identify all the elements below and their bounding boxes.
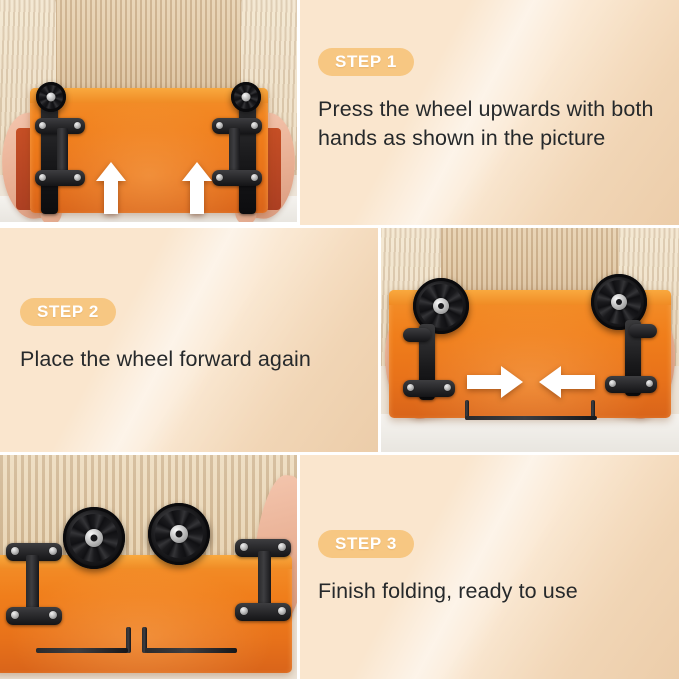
arrow-up-right-icon	[182, 162, 212, 214]
step-3-instruction: Finish folding, ready to use	[318, 577, 657, 606]
step-3-badge-label: STEP 3	[335, 535, 397, 552]
step-1-badge: STEP 1	[318, 48, 414, 76]
arrow-up-left-icon	[96, 162, 126, 214]
wheel-right	[231, 82, 261, 112]
bolt	[646, 380, 653, 387]
wheel-left	[63, 507, 125, 569]
wheel-right	[148, 503, 210, 565]
bolt	[74, 122, 81, 129]
stand-bar-left	[36, 648, 128, 653]
instruction-infographic: STEP 1 Press the wheel upwards with both…	[0, 0, 679, 679]
bolt	[216, 174, 223, 181]
bolt	[251, 174, 258, 181]
step-3-badge: STEP 3	[318, 530, 414, 558]
arrow-left-icon	[539, 366, 595, 398]
step-1-text-panel: STEP 1 Press the wheel upwards with both…	[300, 0, 679, 225]
wheel-left	[36, 82, 66, 112]
bolt	[444, 384, 451, 391]
bolt	[609, 380, 616, 387]
bolt	[74, 174, 81, 181]
bolt	[39, 122, 46, 129]
bolt	[49, 611, 57, 619]
bolt	[407, 384, 414, 391]
step-2-badge-label: STEP 2	[37, 303, 99, 320]
bolt	[278, 543, 286, 551]
step-1-photo	[0, 0, 297, 222]
step-2-text-panel: STEP 2 Place the wheel forward again	[0, 228, 378, 452]
bolt	[49, 547, 57, 555]
step-1-instruction: Press the wheel upwards with both hands …	[318, 95, 657, 153]
arrow-right-icon	[467, 366, 523, 398]
stand-bar	[465, 416, 597, 420]
stand-bar-right	[145, 648, 237, 653]
mount-plate-right-upper	[629, 324, 657, 338]
bolt	[240, 543, 248, 551]
step-3-photo	[0, 455, 297, 679]
bolt	[11, 547, 19, 555]
step-2-badge: STEP 2	[20, 298, 116, 326]
step-2-instruction: Place the wheel forward again	[20, 345, 358, 374]
bolt	[216, 122, 223, 129]
bolt	[251, 122, 258, 129]
mount-plate-left-upper	[403, 328, 431, 342]
step-2-photo	[381, 228, 679, 452]
step-1-badge-label: STEP 1	[335, 53, 397, 70]
bolt	[11, 611, 19, 619]
bolt	[39, 174, 46, 181]
bolt	[278, 607, 286, 615]
bolt	[240, 607, 248, 615]
step-3-text-panel: STEP 3 Finish folding, ready to use	[300, 455, 679, 679]
